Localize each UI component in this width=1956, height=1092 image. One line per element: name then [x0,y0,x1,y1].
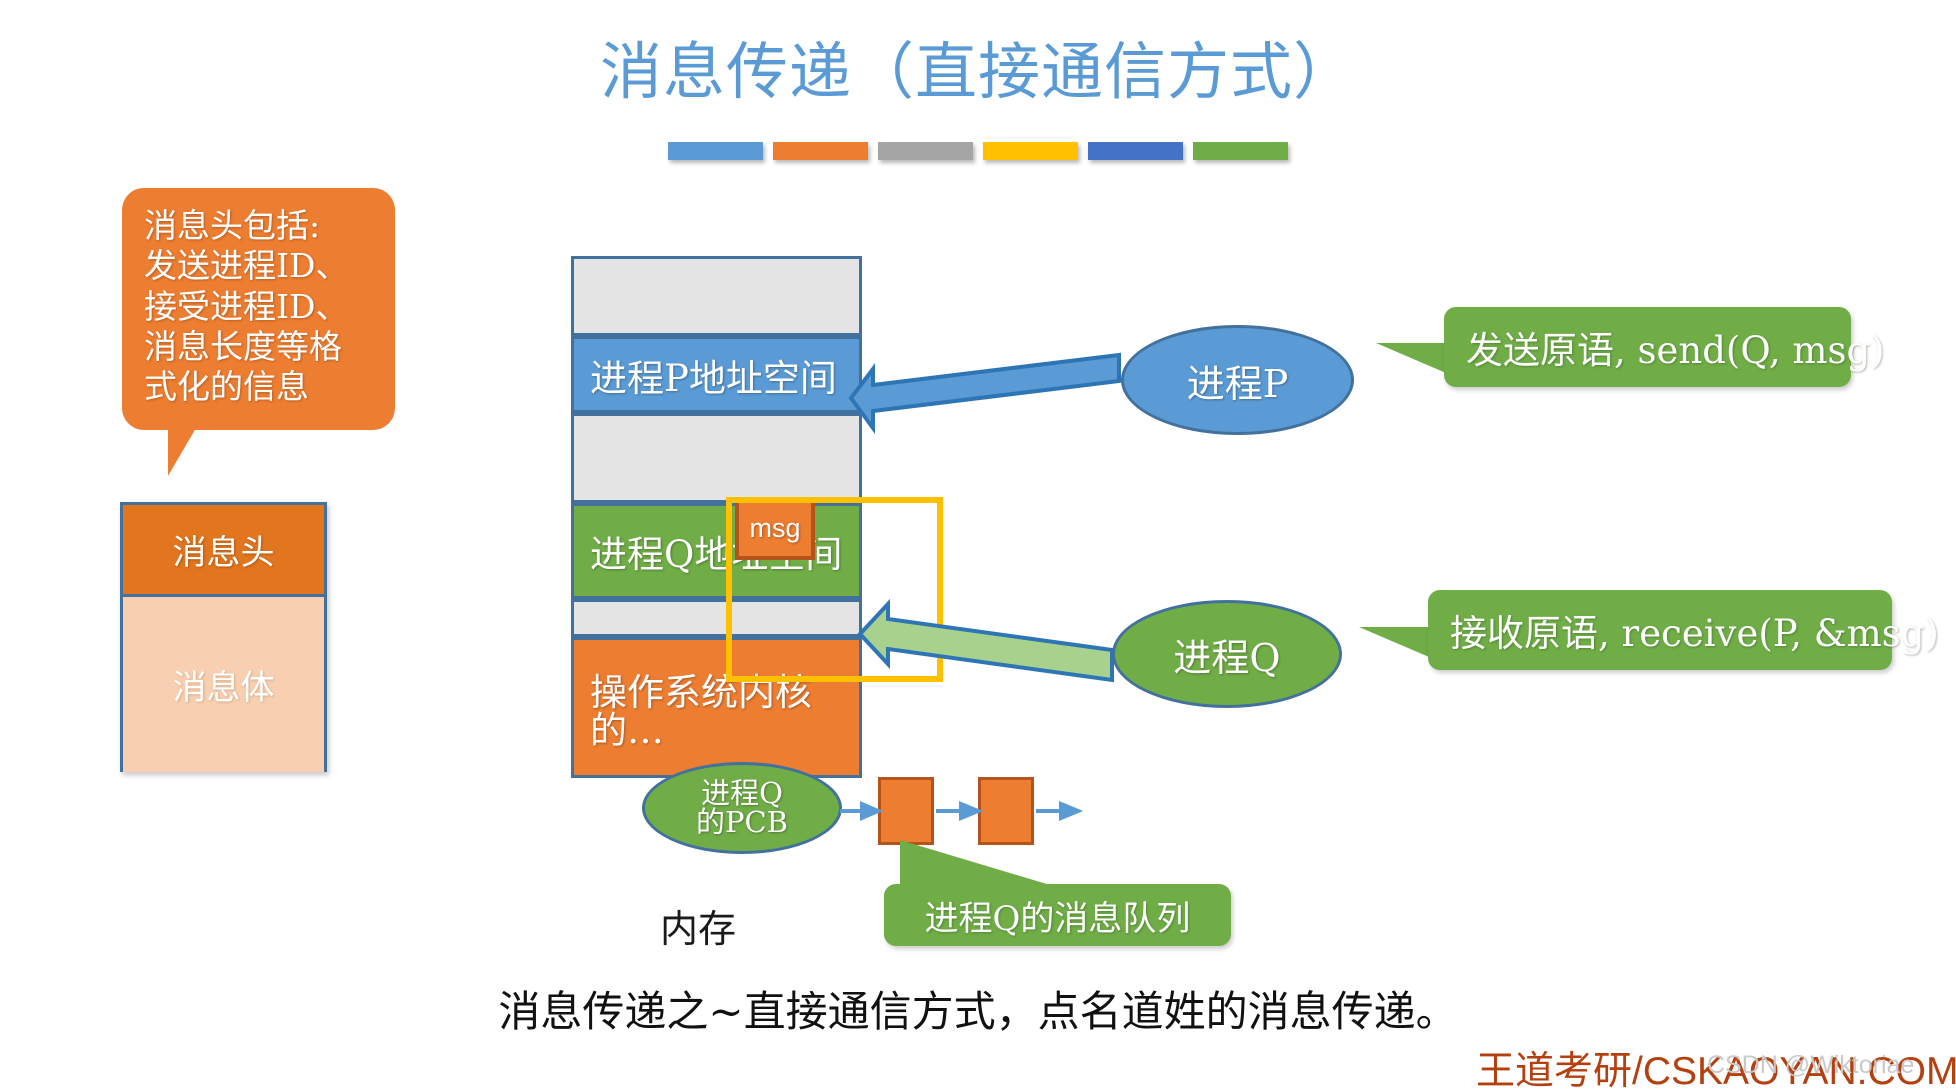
queue-message-box-2 [978,777,1034,845]
message-head-box: 消息头 [123,505,324,597]
message-header-callout-tail [168,428,224,476]
process-q-pcb-ellipse: 进程Q 的PCB [642,762,842,854]
send-arrow-p [851,355,1119,428]
memory-caption-label: 内存 [660,898,736,953]
memory-row-free-1 [571,256,862,336]
slide-caption: 消息传递之~直接通信方式，点名道姓的消息传递。 [0,978,1956,1039]
message-structure-diagram: 消息头 消息体 [120,502,327,772]
receive-primitive-callout: 接收原语, receive(P, &msg) [1428,590,1892,670]
title-color-bar [668,142,1288,160]
queue-callout-tail [900,840,1060,888]
color-segment-gray [878,142,973,160]
csdn-watermark: CSDN @Wiktoriae [1707,1051,1914,1080]
os-kernel-label: 操作系统内核 的… [590,674,812,749]
memory-row-free-2 [571,413,862,503]
message-body-box: 消息体 [123,597,324,772]
process-q-ellipse: 进程Q [1112,600,1342,708]
memory-row-process-p: 进程P地址空间 [571,336,862,413]
send-callout-tail [1376,343,1446,373]
receive-callout-tail [1359,627,1429,657]
pcb-label-line1: 进程Q [701,779,783,808]
pcb-label-line2: 的PCB [696,808,788,837]
process-p-ellipse: 进程P [1121,325,1354,435]
color-segment-green [1193,142,1288,160]
message-header-callout: 消息头包括: 发送进程ID、 接受进程ID、 消息长度等格 式化的信息 [122,188,395,430]
color-segment-yellow [983,142,1078,160]
color-segment-dark-blue [1088,142,1183,160]
color-segment-orange [773,142,868,160]
message-queue-callout: 进程Q的消息队列 [884,884,1231,946]
highlight-rectangle [726,497,943,682]
slide-canvas: 消息传递（直接通信方式） 消息头包括: 发送进程ID、 接受进程ID、 消息长度… [0,0,1956,1092]
send-primitive-callout: 发送原语, send(Q, msg) [1444,307,1851,387]
queue-link-arrows [840,804,1078,818]
page-title: 消息传递（直接通信方式） [0,36,1956,107]
color-segment-blue [668,142,763,160]
queue-message-box-1 [878,777,934,845]
